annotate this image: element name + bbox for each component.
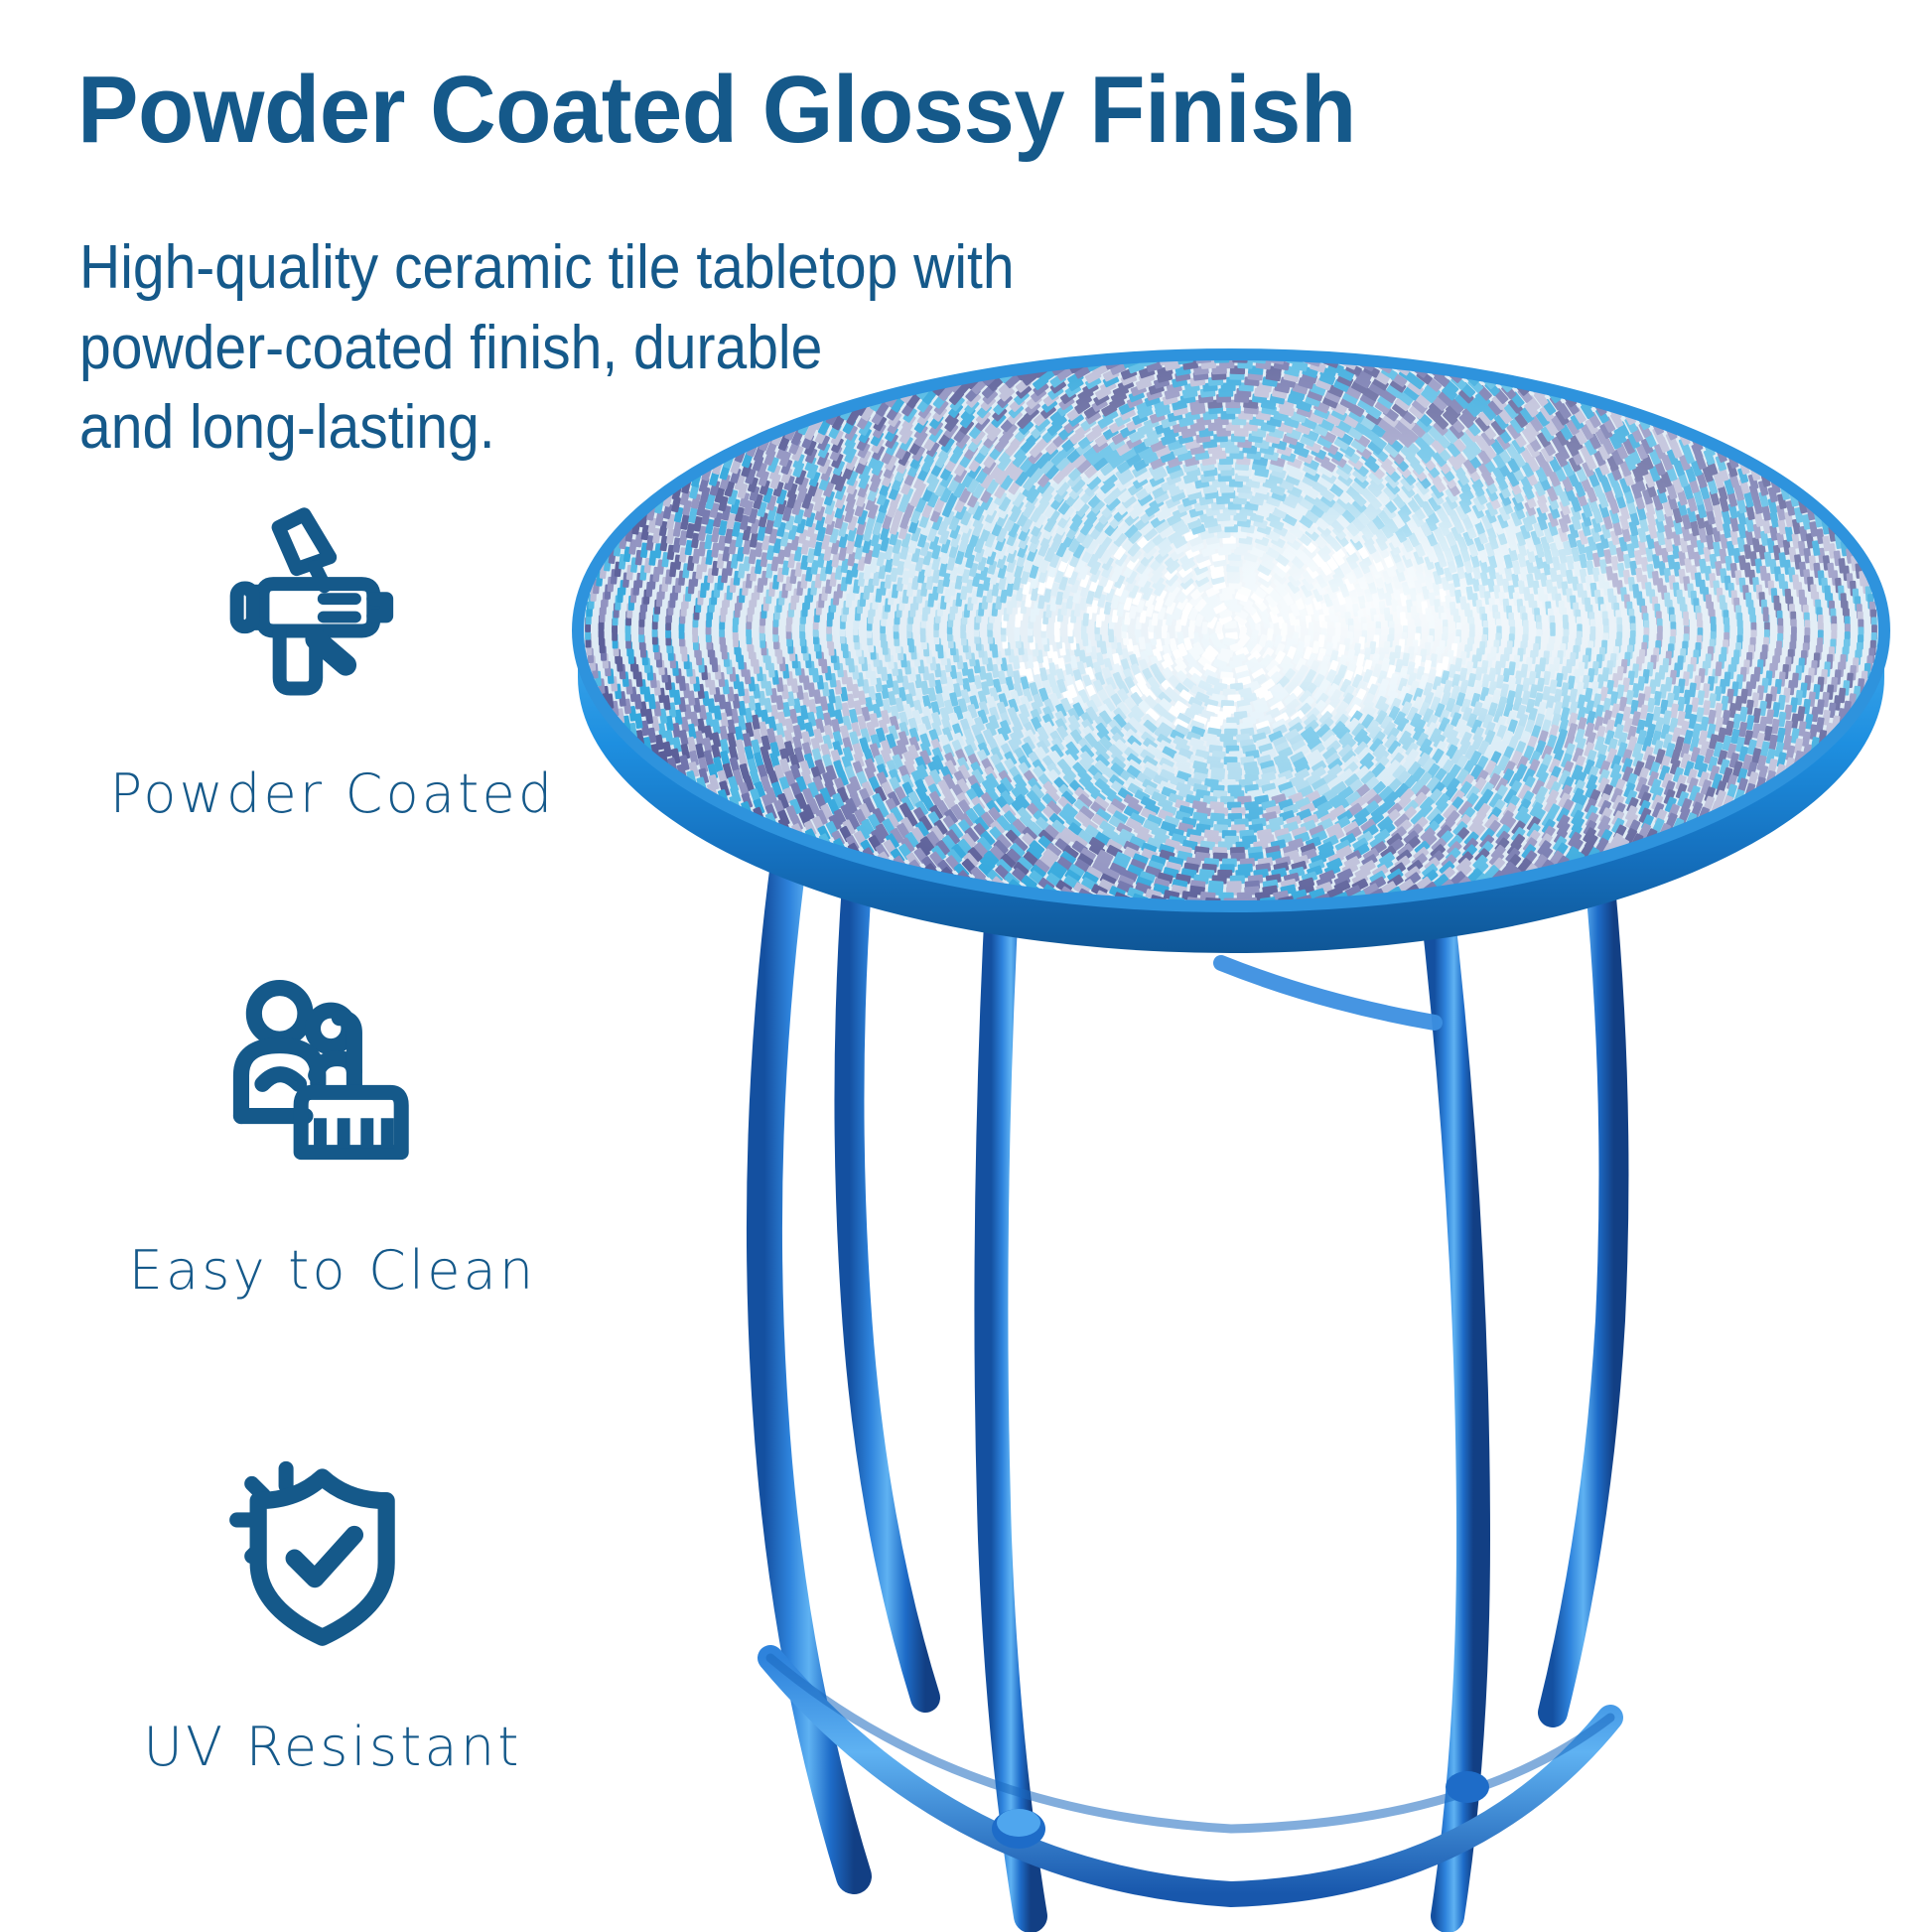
feature-label: Easy to Clean [94, 1239, 571, 1302]
spray-gun-icon [213, 496, 427, 710]
feature-item-powder-coated: Powder Coated [94, 496, 611, 973]
product-image-mosaic-table [536, 328, 1932, 1932]
cleaning-person-broom-icon [213, 973, 427, 1186]
page-title: Powder Coated Glossy Finish [77, 62, 1356, 159]
feature-list: Powder Coated [94, 496, 611, 1926]
feature-item-easy-to-clean: Easy to Clean [94, 973, 611, 1449]
product-feature-card: Powder Coated Glossy Finish High-quality… [0, 0, 1932, 1932]
feature-label: Powder Coated [94, 762, 571, 825]
feature-label: UV Resistant [94, 1716, 571, 1778]
sun-shield-check-icon [213, 1449, 427, 1663]
feature-item-uv-resistant: UV Resistant [94, 1449, 611, 1926]
